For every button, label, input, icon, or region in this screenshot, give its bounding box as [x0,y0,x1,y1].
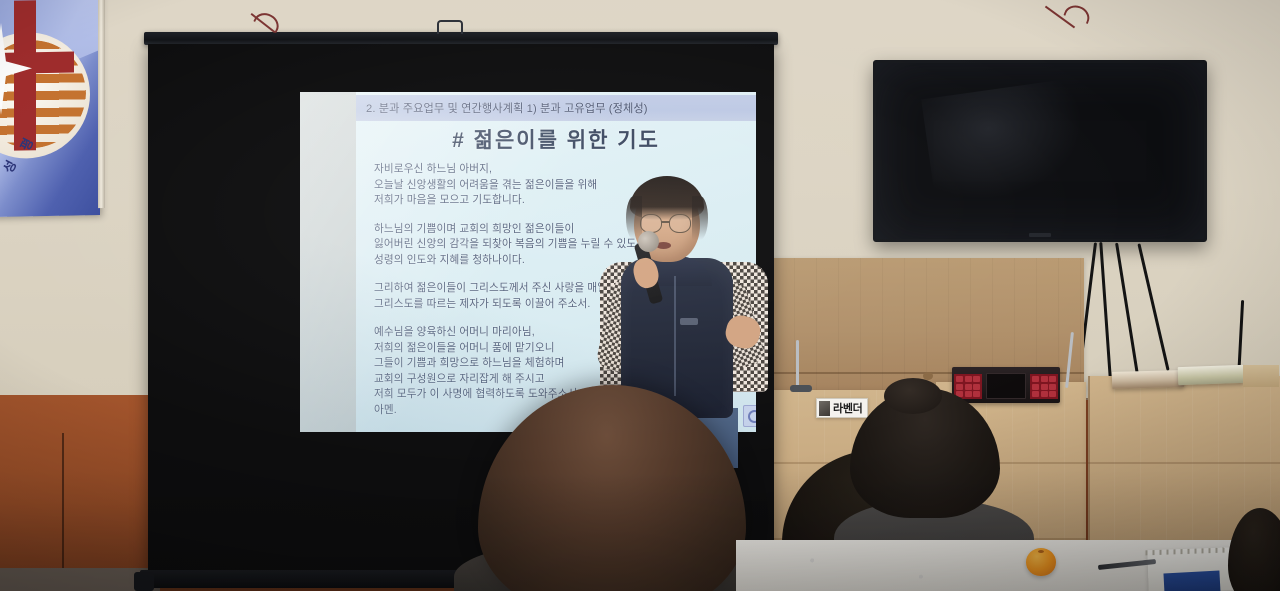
screen-foot-left [134,572,154,591]
cardboard-box [1243,365,1279,387]
sign-label: 라벤더 [833,400,862,416]
slide-header-text: 2. 분과 주요업무 및 연간행사계획 1) 분과 고유업무 (정체성) [356,100,648,116]
presenter-vest-zipper [674,276,676,396]
wall-mounted-tv [873,60,1207,242]
room-name-sign: 라벤더 [816,398,868,418]
slide-logo-ring-icon [748,410,756,423]
book-stack-b [1178,365,1245,385]
audio-amplifier [952,367,1060,403]
tangerine-stem-icon [1038,550,1044,553]
presenter-vest-logo [680,318,698,325]
microphone-stand-base [790,385,812,392]
slide-footer-logo-icon [743,405,756,427]
blue-folder [1163,571,1220,591]
tangerine [1026,548,1056,576]
cabinet-line [1088,462,1280,464]
slide-header-band: 2. 분과 주요업무 및 연간행사계획 1) 분과 고유업무 (정체성) [356,95,756,121]
banner-pole [98,0,105,208]
tv-glare [922,77,1093,207]
banner-cross-icon [14,0,36,150]
book-stack-a [1112,370,1184,389]
audience-2-hair-bun [884,378,942,414]
slide-title: # 젊은이를 위한 기도 [356,124,756,154]
screen-pull-handle-icon[interactable] [437,20,463,34]
presenter-glasses-right-lens-icon [669,214,691,233]
panel-seam [62,433,64,583]
meeting-room-photo: 평 성 [0,0,1280,591]
microphone-stand-left [796,340,799,390]
sign-photo-icon [819,401,830,416]
amp-button-grid-left [954,374,982,399]
left-wood-panel [0,395,150,591]
presenter-hair-right [692,196,708,240]
slide-left-gutter [300,92,356,432]
amp-display [986,373,1026,399]
tv-logo [1029,233,1051,237]
presenter-glasses-bridge [661,221,670,223]
amp-button-grid-right [1030,374,1058,399]
parish-banner: 평 성 [0,0,100,217]
banner-text-2: 성 [0,157,20,176]
